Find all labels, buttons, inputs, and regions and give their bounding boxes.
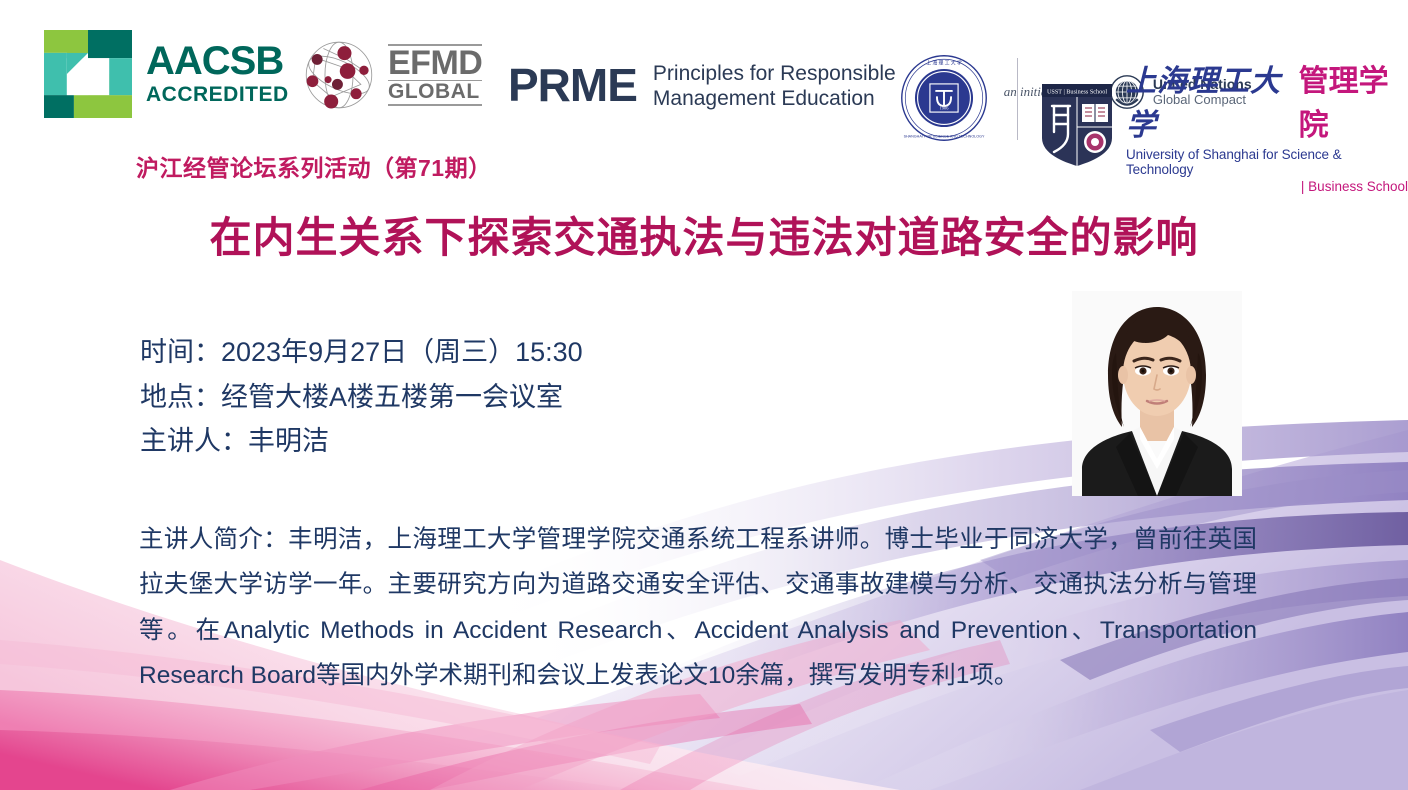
- prme-wordmark: PRME: [508, 62, 637, 108]
- usst-cn-school: 管理学院: [1299, 56, 1408, 144]
- aacsb-accredited-label: ACCREDITED: [146, 83, 289, 106]
- speaker-bio: 主讲人简介：丰明洁，上海理工大学管理学院交通系统工程系讲师。博士毕业于同济大学，…: [139, 517, 1257, 698]
- aacsb-mark-icon: [44, 30, 132, 118]
- efmd-network-icon: [300, 36, 378, 114]
- event-speaker: 主讲人：丰明洁: [140, 419, 583, 464]
- svg-text:USST | Business School: USST | Business School: [1047, 89, 1107, 96]
- usst-business-school-shield-icon: USST | Business School: [1040, 82, 1114, 168]
- efmd-wordmark: EFMD: [388, 44, 482, 80]
- prme-tagline-line2: Management Education: [653, 87, 896, 112]
- event-time: 时间：2023年9月27日（周三）15:30: [140, 330, 583, 375]
- usst-cn-name: 上海理工大学: [1126, 56, 1296, 144]
- usst-en-school: | Business School: [1126, 179, 1408, 194]
- aacsb-wordmark: AACSB: [146, 41, 289, 81]
- svg-text:上 海 理 工 大 学: 上 海 理 工 大 学: [926, 60, 962, 67]
- svg-text:1906: 1906: [940, 105, 950, 110]
- aacsb-logo: AACSB ACCREDITED: [44, 30, 289, 118]
- page-title: 在内生关系下探索交通执法与违法对道路安全的影响: [0, 204, 1408, 265]
- speaker-portrait: [1072, 291, 1242, 496]
- event-details: 时间：2023年9月27日（周三）15:30 地点：经管大楼A楼五楼第一会议室 …: [140, 330, 583, 464]
- forum-series-label: 沪江经管论坛系列活动（第71期）: [136, 149, 492, 183]
- usst-seal-icon: 1906 上 海 理 工 大 学 SHANGHAI FOR SCIENCE AN…: [900, 54, 988, 142]
- svg-text:SHANGHAI FOR SCIENCE AND TECHN: SHANGHAI FOR SCIENCE AND TECHNOLOGY: [904, 135, 985, 139]
- efmd-global-logo: EFMD GLOBAL: [300, 36, 482, 114]
- prme-tagline-line1: Principles for Responsible: [653, 62, 896, 87]
- usst-university-seal: 1906 上 海 理 工 大 学 SHANGHAI FOR SCIENCE AN…: [900, 54, 988, 142]
- event-location: 地点：经管大楼A楼五楼第一会议室: [140, 375, 583, 420]
- usst-en-name: University of Shanghai for Science & Tec…: [1126, 147, 1408, 177]
- accreditation-logo-strip: AACSB ACCREDITED: [0, 22, 1408, 144]
- logo-divider: [1017, 58, 1018, 140]
- usst-business-school-logo: USST | Business School: [1040, 56, 1408, 194]
- efmd-global-label: GLOBAL: [388, 81, 482, 106]
- event-poster: AACSB ACCREDITED: [0, 0, 1408, 790]
